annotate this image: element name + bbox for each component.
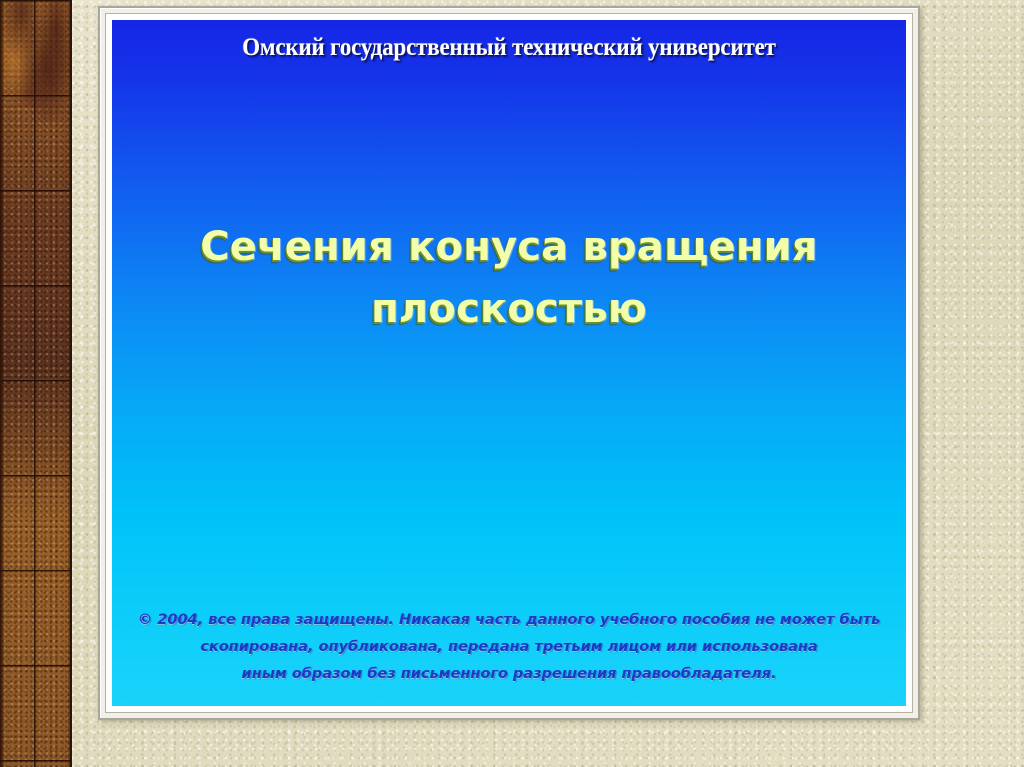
slide-title-line-1: Сечения конуса вращения	[200, 224, 818, 270]
slide-frame: Омский государственный технический униве…	[98, 6, 920, 720]
band-left-edge-shadow	[0, 0, 5, 767]
copyright-line-2: скопирована, опубликована, передана трет…	[128, 634, 890, 661]
presentation-slide[interactable]: Омский государственный технический униве…	[112, 20, 906, 706]
slide-title: Сечения конуса вращения плоскостью	[172, 216, 846, 340]
copyright-notice: © 2004, все права защищены. Никакая част…	[128, 607, 890, 688]
slide-page: Омский государственный технический униве…	[0, 0, 1024, 767]
slide-inner-border: Омский государственный технический униве…	[105, 13, 913, 713]
band-right-edge-shadow	[67, 0, 72, 767]
left-texture-band	[0, 0, 72, 767]
university-name: Омский государственный технический униве…	[144, 34, 874, 62]
copyright-line-3: иным образом без письменного разрешения …	[128, 661, 890, 688]
copyright-line-1: © 2004, все права защищены. Никакая част…	[128, 607, 890, 634]
slide-title-line-2: плоскостью	[172, 278, 846, 340]
band-grid-lines	[0, 0, 72, 767]
